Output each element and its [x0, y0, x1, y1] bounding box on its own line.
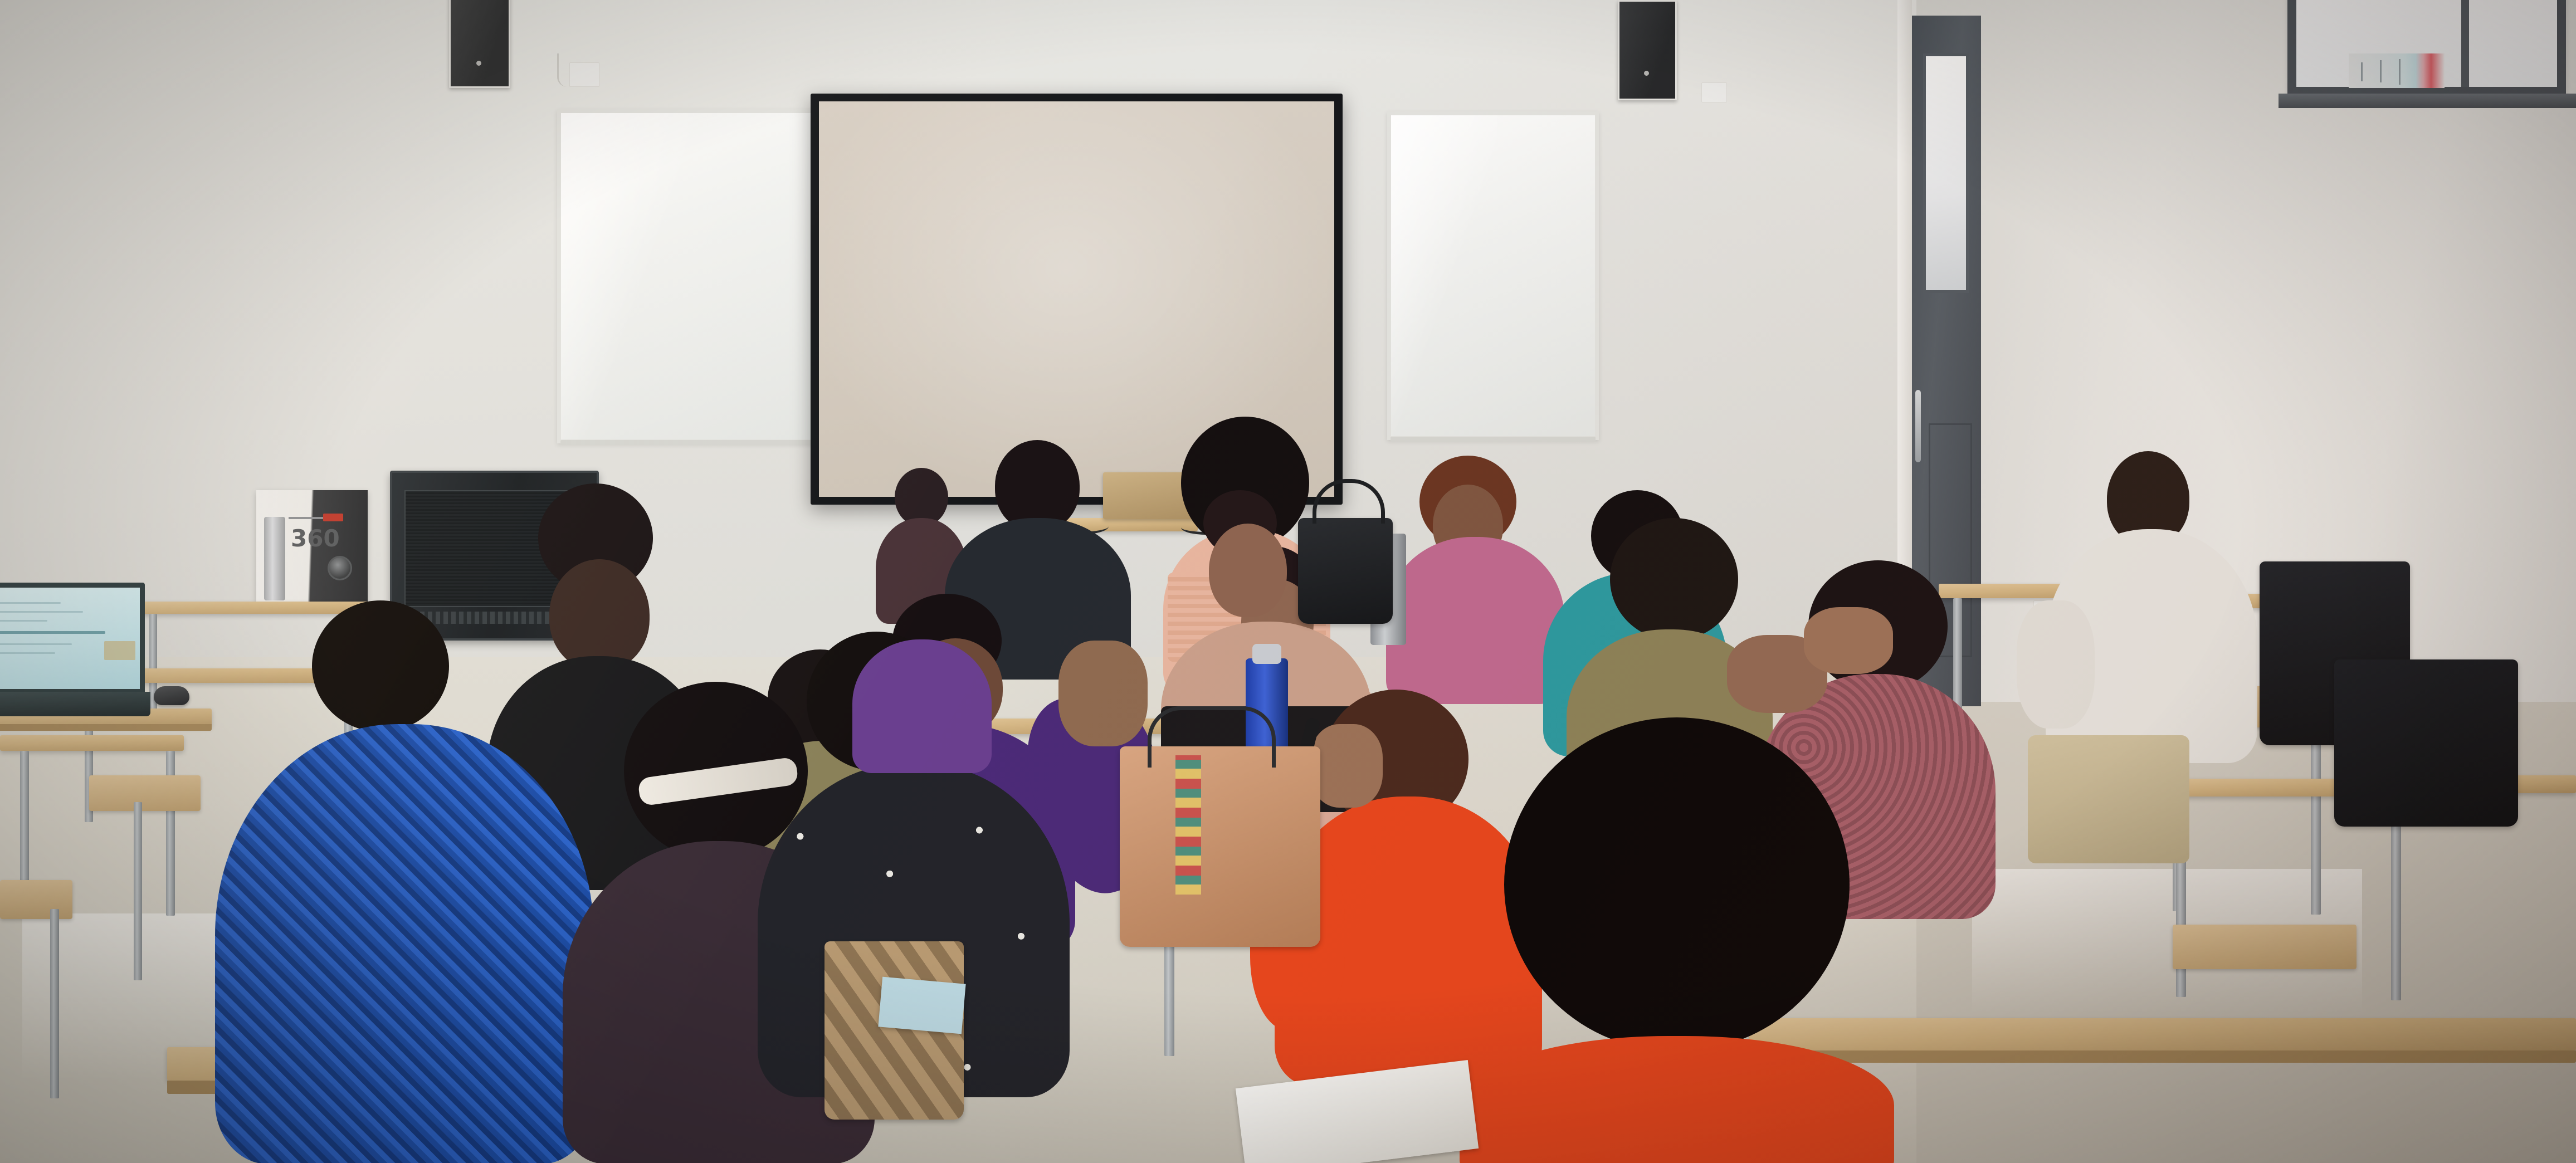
- hair: [1504, 717, 1850, 1052]
- tan-leather-handbag[interactable]: [1120, 746, 1320, 947]
- bottle-cap[interactable]: [1252, 644, 1281, 664]
- hair: [312, 600, 449, 732]
- desk-edge: [0, 724, 212, 731]
- box-model-number: 360: [291, 525, 340, 552]
- wall-outlet-plate: [569, 62, 599, 87]
- poster-tick: [2361, 62, 2363, 81]
- rack-lower-vent: [412, 612, 563, 624]
- whiteboard-left: [557, 109, 819, 443]
- desk-edge: [1749, 1050, 2576, 1063]
- window-mullion: [2461, 0, 2469, 87]
- screen-text-line: [0, 652, 55, 654]
- screen-text-line: [0, 620, 47, 622]
- door-handle[interactable]: [1915, 390, 1921, 462]
- box-red-label: [323, 514, 343, 521]
- black-shoulder-bag[interactable]: [1298, 518, 1393, 624]
- chair-backrest[interactable]: [2173, 925, 2357, 969]
- screen-text-line: [0, 611, 83, 613]
- chair-backrest[interactable]: [89, 775, 201, 811]
- wall-outlet-plate: [1701, 82, 1727, 102]
- window-sill: [2279, 94, 2576, 108]
- hand: [1804, 607, 1893, 674]
- poster-tick: [2380, 60, 2382, 82]
- chair-leg: [134, 802, 142, 980]
- screen-text-line: [0, 643, 72, 645]
- box-lens-graphic: [328, 556, 352, 580]
- box-cylinder-graphic: [264, 517, 285, 600]
- poster-tick: [2399, 59, 2401, 85]
- torso: [852, 639, 992, 773]
- head: [549, 559, 650, 671]
- box-brand-bar: [289, 517, 323, 519]
- classroom-scene: Zoom Reunião – □ ✕ Luís Bernardino Luís …: [0, 0, 2576, 1163]
- trousers: [2028, 735, 2189, 863]
- screen-heading-line: [0, 631, 105, 634]
- handbag-strap: [1148, 706, 1276, 768]
- torso: [1386, 537, 1564, 704]
- computer-mouse[interactable]: [154, 686, 189, 705]
- wall-speaker-left: [449, 0, 510, 88]
- hand: [1058, 641, 1148, 746]
- product-box-360: 360: [256, 490, 368, 602]
- door-glass-panel: [1923, 53, 1969, 293]
- laptop-screen[interactable]: [0, 583, 145, 694]
- speaker-driver: [476, 61, 481, 66]
- handbag-stripe: [1175, 755, 1201, 895]
- desk-leg: [2391, 796, 2401, 1000]
- wall-speaker-right: [1618, 0, 1677, 100]
- window-poster: [2349, 53, 2445, 88]
- torso: [215, 724, 594, 1163]
- chair-leg: [50, 909, 59, 1098]
- screen-thumbnail: [104, 641, 135, 660]
- hair: [1610, 518, 1738, 641]
- whiteboard-glare: [1391, 115, 1497, 436]
- hand: [1310, 724, 1383, 808]
- phone-on-desk[interactable]: [878, 977, 965, 1034]
- black-backpack: [2334, 659, 2518, 827]
- desk-top: [0, 735, 184, 751]
- screen-text-line: [0, 602, 61, 604]
- whiteboard-right: [1387, 111, 1599, 440]
- whiteboard-marker-tray: [1391, 437, 1596, 442]
- chair-backrest[interactable]: [0, 880, 72, 919]
- chair-leg: [2311, 727, 2321, 915]
- whiteboard-glare: [561, 113, 708, 439]
- speaker-driver: [1644, 71, 1649, 76]
- arm: [2017, 600, 2095, 729]
- torso: [1460, 1036, 1894, 1163]
- head: [1209, 524, 1287, 617]
- whiteboard-marker-tray: [560, 440, 816, 445]
- laptop-keyboard-base[interactable]: [0, 692, 150, 716]
- front-desk-top: [1749, 1018, 2576, 1050]
